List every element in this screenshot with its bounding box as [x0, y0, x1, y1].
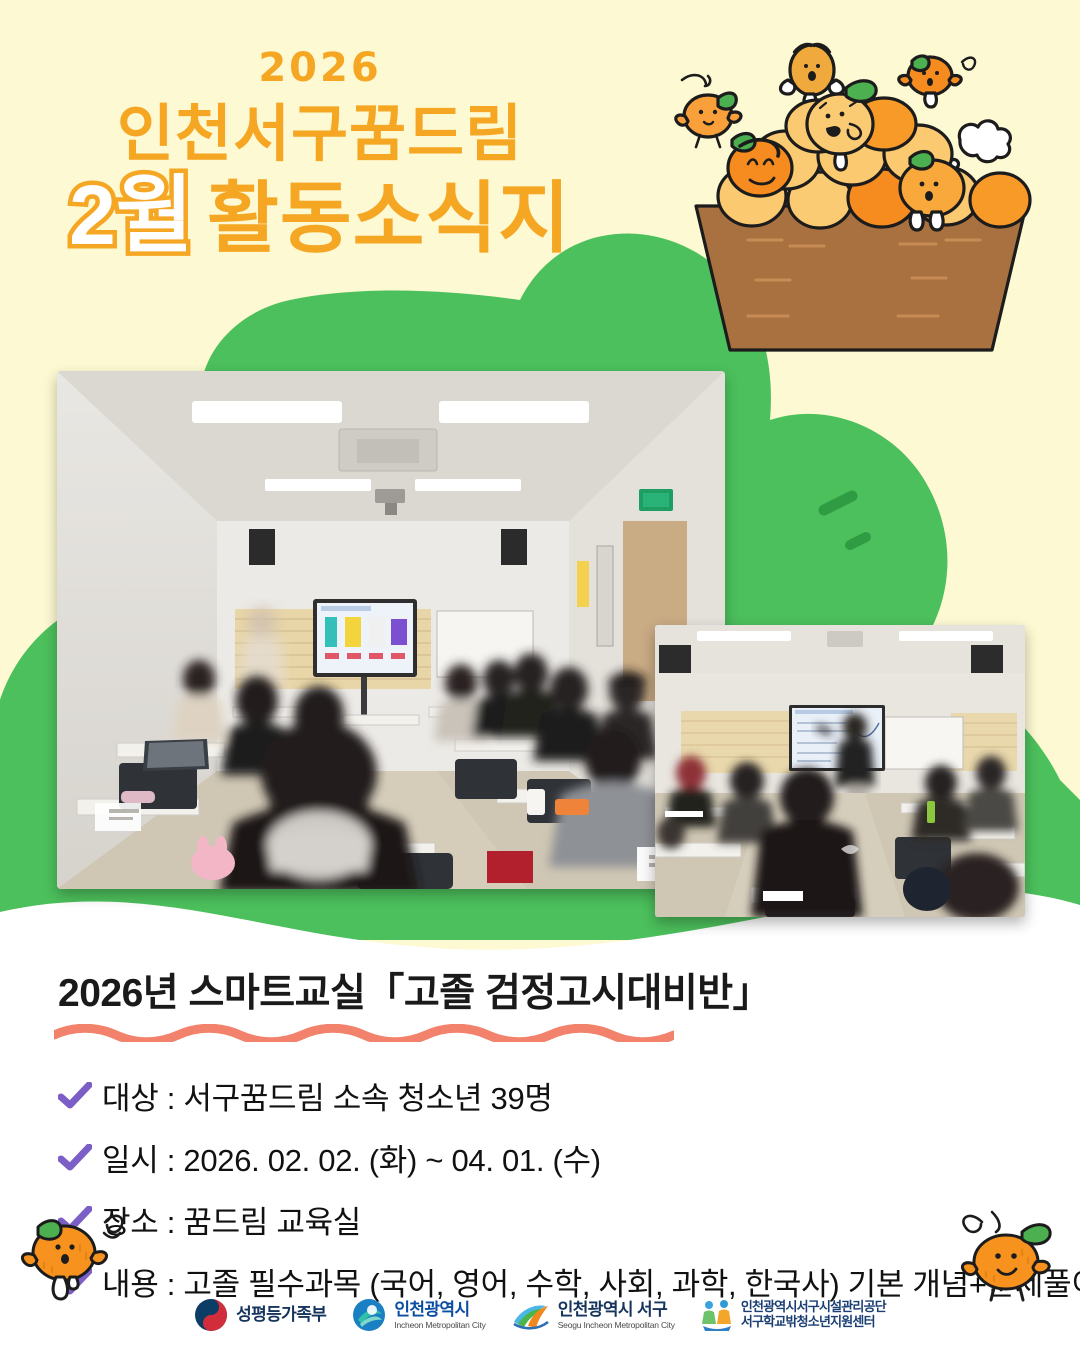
list-item: 일시 : 2026. 02. 02. (화) ~ 04. 01. (수) — [58, 1135, 1080, 1180]
header-year: 2026 — [0, 48, 640, 88]
logo-incheon-metropolitan-city: 인천광역시 Incheon Metropolitan City — [352, 1298, 485, 1332]
detail-list: 대상 : 서구꿈드림 소속 청소년 39명 일시 : 2026. 02. 02.… — [58, 1073, 1080, 1304]
header-title-row: 2월 활동소식지 — [0, 173, 640, 257]
logo-seogu-incheon: 인천광역시 서구 Seogu Incheon Metropolitan City — [512, 1300, 675, 1330]
logo-label-ko: 인천광역시 — [394, 1300, 485, 1320]
logo-label-ko-line1: 인천광역시서구시설관리공단 — [741, 1300, 886, 1315]
list-item-text: 일시 : 2026. 02. 02. (화) ~ 04. 01. (수) — [102, 1135, 601, 1180]
running-tangerine-mascot — [14, 1207, 134, 1302]
logo-label-en: Incheon Metropolitan City — [394, 1320, 485, 1330]
logo-text-block: 인천광역시서구시설관리공단 서구학교밖청소년지원센터 — [741, 1300, 886, 1330]
poster-body: 2026년 스마트교실「고졸 검정고시대비반」 대상 : 서구꿈드림 소속 청소… — [0, 962, 1080, 1321]
list-item-text: 대상 : 서구꿈드림 소속 청소년 39명 — [102, 1073, 553, 1118]
incheon-city-icon — [352, 1298, 386, 1332]
classroom-photo-main — [57, 371, 725, 889]
logo-text-block: 성평등가족부 — [236, 1305, 326, 1325]
logo-youth-support-center: 인천광역시서구시설관리공단 서구학교밖청소년지원센터 — [701, 1298, 886, 1332]
list-item-text: 장소 : 꿈드림 교육실 — [102, 1197, 361, 1242]
list-item: 장소 : 꿈드림 교육실 — [58, 1197, 1080, 1242]
classroom-photo-inset — [655, 625, 1025, 917]
poster-canvas: 2026 인천서구꿈드림 2월 활동소식지 — [0, 0, 1080, 1350]
footer-logo-bar: 성평등가족부 인천광역시 Incheon Metropolitan City — [0, 1298, 1080, 1332]
tangerine-basket-illustration — [660, 28, 1060, 358]
logo-label-ko-line2: 서구학교밖청소년지원센터 — [741, 1315, 886, 1330]
poster-header: 2026 인천서구꿈드림 2월 활동소식지 — [0, 48, 640, 257]
check-icon — [58, 1082, 92, 1110]
youth-center-icon — [701, 1298, 733, 1332]
logo-label-ko: 성평등가족부 — [236, 1305, 326, 1325]
list-item: 대상 : 서구꿈드림 소속 청소년 39명 — [58, 1073, 1080, 1118]
logo-text-block: 인천광역시 서구 Seogu Incheon Metropolitan City — [558, 1300, 675, 1330]
seogu-icon — [512, 1300, 550, 1330]
header-organization: 인천서구꿈드림 — [0, 102, 640, 167]
check-icon — [58, 1144, 92, 1172]
logo-label-ko: 인천광역시 서구 — [558, 1300, 675, 1320]
logo-label-en: Seogu Incheon Metropolitan City — [558, 1320, 675, 1330]
wavy-underline — [54, 1024, 674, 1042]
logo-text-block: 인천광역시 Incheon Metropolitan City — [394, 1300, 485, 1330]
header-month: 2월 — [69, 173, 193, 257]
taegeuk-icon — [194, 1298, 228, 1332]
waving-tangerine-mascot — [946, 1206, 1066, 1304]
logo-ministry-gender-equality-family: 성평등가족부 — [194, 1298, 326, 1332]
header-newsletter-word: 활동소식지 — [207, 179, 571, 257]
program-title: 2026년 스마트교실「고졸 검정고시대비반」 — [58, 962, 1080, 1018]
